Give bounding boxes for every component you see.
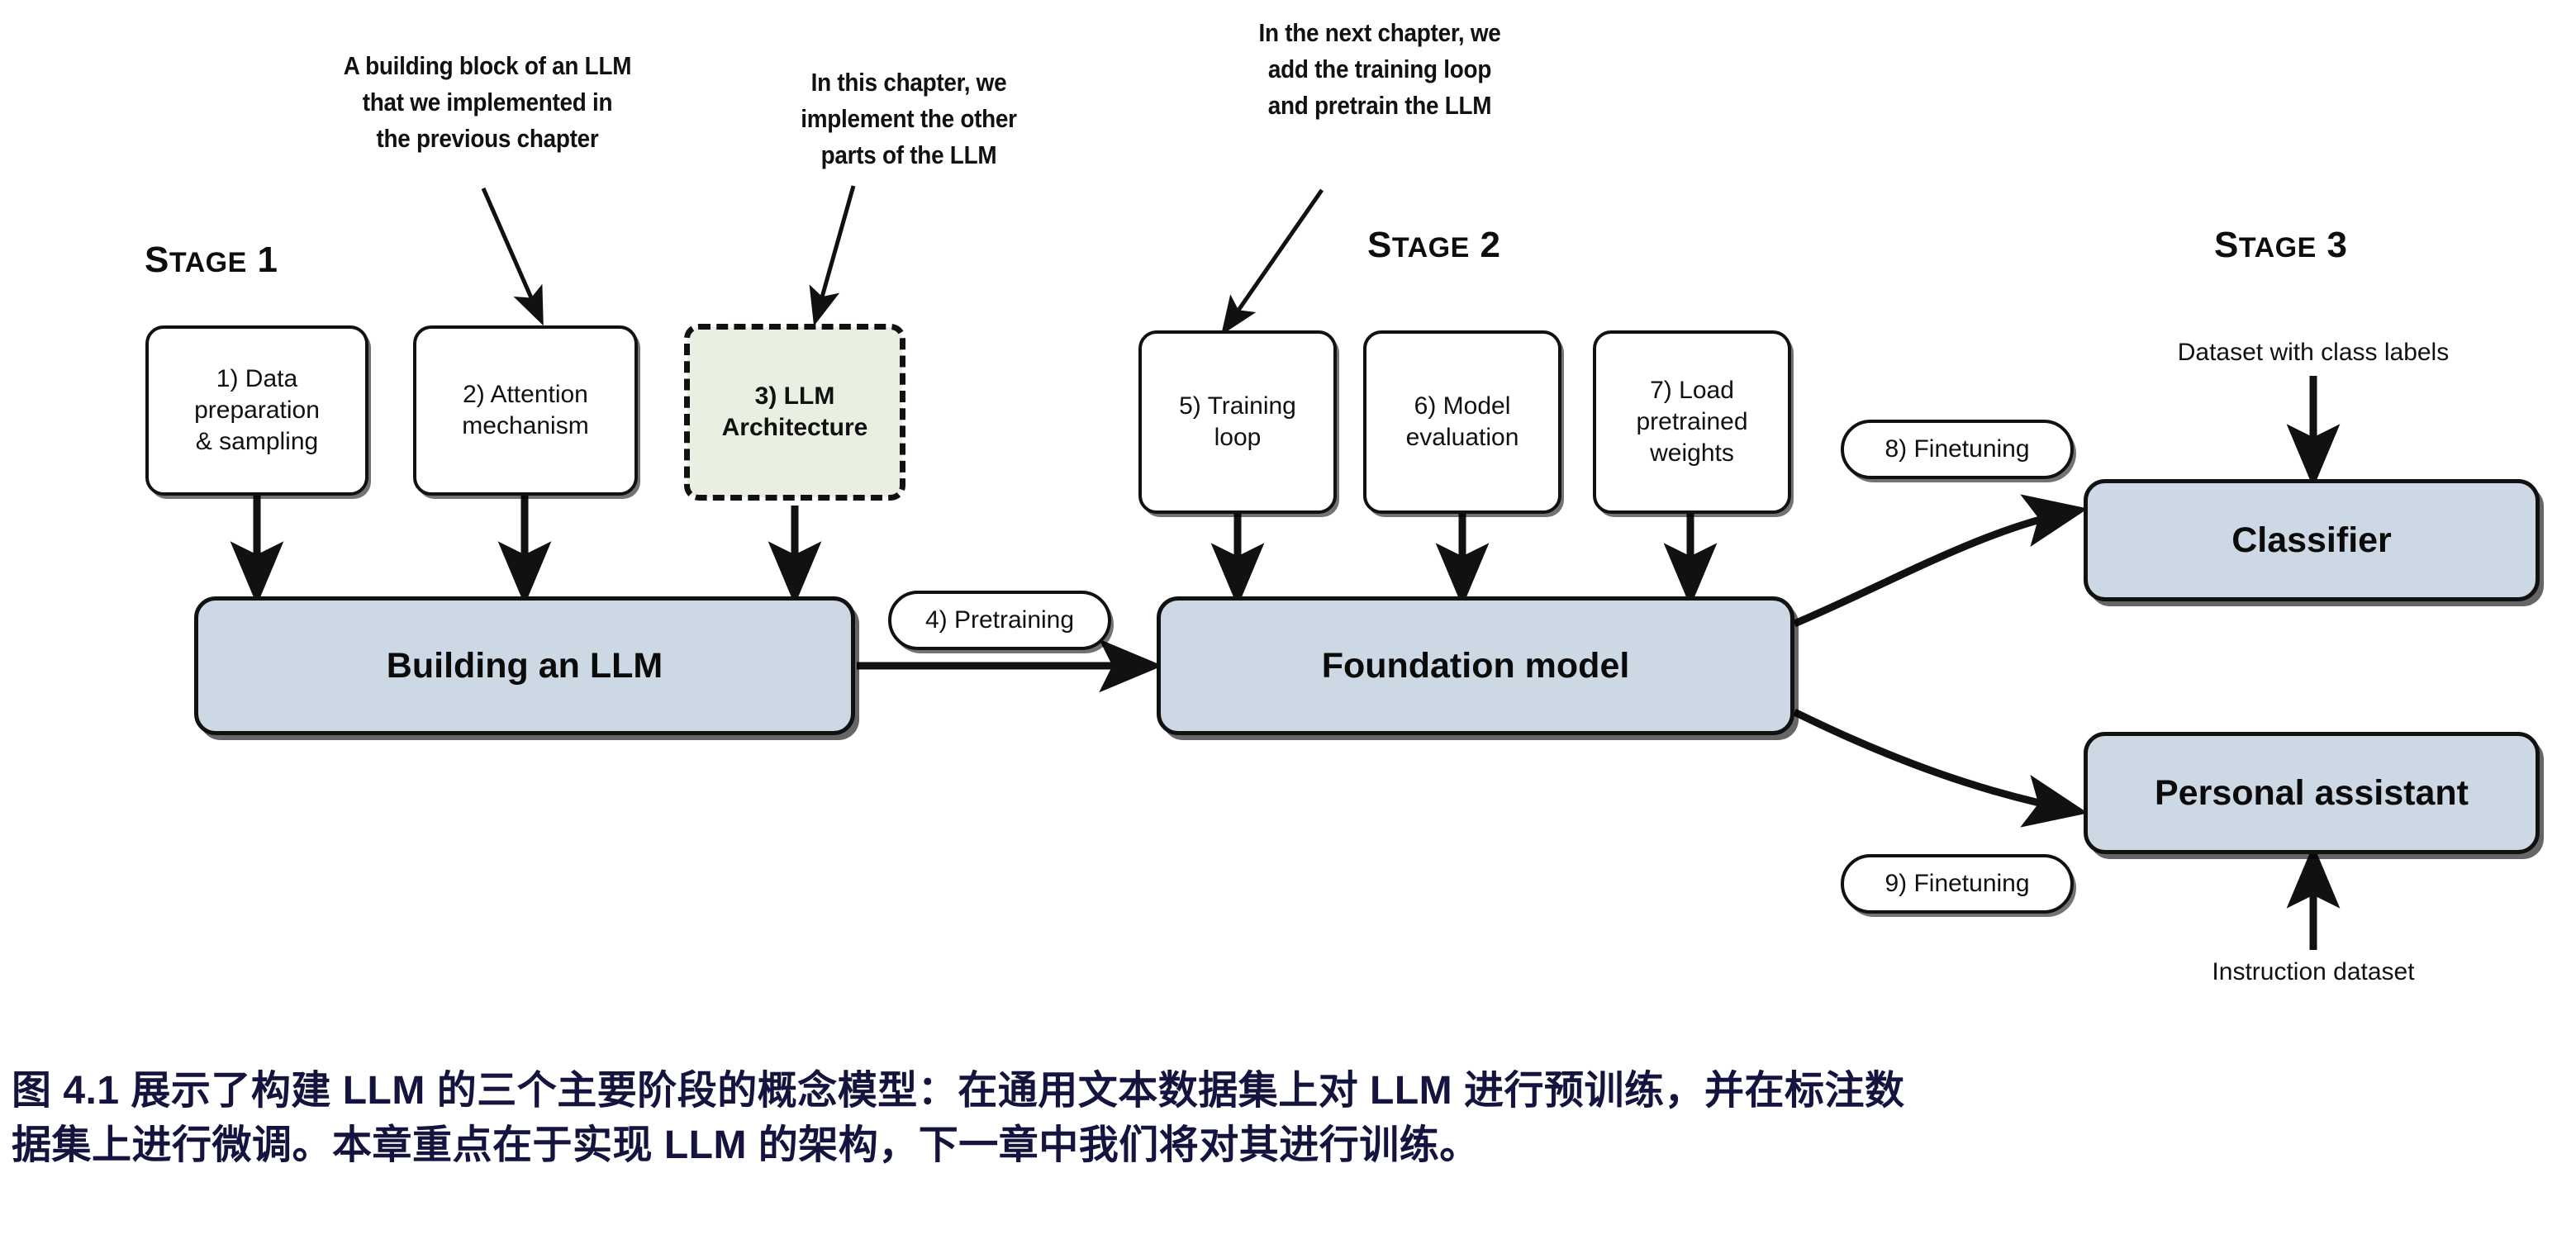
step-line: & sampling <box>194 426 320 458</box>
caption-line-2: 据集上进行微调。本章重点在于实现 LLM 的架构，下一章中我们将对其进行训练。 <box>12 1118 2564 1173</box>
step-line: 6) Model <box>1406 391 1519 422</box>
dataset-with-class-labels-label: Dataset with class labels <box>2123 339 2503 367</box>
stage-label-2: STAGE 2 <box>1367 225 1501 266</box>
callout-arrow-2 <box>815 186 853 320</box>
callout-prev-chapter: A building block of an LLM that we imple… <box>272 48 703 157</box>
box-foundation-model[interactable]: Foundation model <box>1157 596 1794 735</box>
callout-line: add the training loop <box>1194 51 1566 88</box>
step-line: loop <box>1179 422 1296 453</box>
caption-text: Instruction dataset <box>2212 958 2414 985</box>
arrow-foundation-assistant <box>1794 712 2078 811</box>
pill-finetuning-classifier[interactable]: 8) Finetuning <box>1841 420 2074 479</box>
step-line: 7) Load <box>1636 375 1747 406</box>
stage-label-number: 2 <box>1470 225 1501 265</box>
box-personal-assistant[interactable]: Personal assistant <box>2084 732 2540 854</box>
step-line: mechanism <box>462 411 588 442</box>
callout-line: A building block of an LLM <box>272 48 703 84</box>
step-line: Architecture <box>722 412 868 444</box>
step-box-data-preparation[interactable]: 1) Data preparation & sampling <box>145 325 368 496</box>
caption-line-1: 图 4.1 展示了构建 LLM 的三个主要阶段的概念模型：在通用文本数据集上对 … <box>12 1064 2564 1118</box>
stage-label-3: STAGE 3 <box>2214 225 2348 266</box>
callout-line: implement the other <box>745 101 1072 137</box>
step-line: 1) Data <box>194 363 320 395</box>
instruction-dataset-label: Instruction dataset <box>2123 958 2503 986</box>
step-box-load-pretrained-weights[interactable]: 7) Load pretrained weights <box>1593 330 1791 514</box>
arrow-foundation-classifier <box>1794 510 2078 624</box>
stage-label-1: STAGE 1 <box>145 240 278 281</box>
step-line: weights <box>1636 438 1747 469</box>
callout-line: In this chapter, we <box>745 64 1072 101</box>
stage-label-initial: S <box>1367 225 1392 265</box>
step-box-attention-mechanism[interactable]: 2) Attention mechanism <box>413 325 638 496</box>
stage-label-initial: S <box>145 240 169 280</box>
step-box-training-loop[interactable]: 5) Training loop <box>1138 330 1337 514</box>
caption-text: Dataset with class labels <box>2178 339 2449 366</box>
llm-stages-diagram: A building block of an LLM that we imple… <box>0 0 2576 1244</box>
callout-line: that we implemented in <box>272 84 703 121</box>
stage-label-rest: TAGE <box>169 247 247 278</box>
step-line: preparation <box>194 395 320 426</box>
callout-arrow-1 <box>483 188 541 320</box>
step-line: evaluation <box>1406 422 1519 453</box>
pill-label: 9) Finetuning <box>1884 870 2029 898</box>
stage-label-rest: TAGE <box>2239 232 2317 264</box>
callout-line: the previous chapter <box>272 121 703 157</box>
stage-label-initial: S <box>2214 225 2239 265</box>
box-classifier[interactable]: Classifier <box>2084 479 2540 601</box>
stage-label-number: 3 <box>2317 225 2348 265</box>
callout-arrow-3 <box>1224 190 1322 330</box>
step-line: 2) Attention <box>462 379 588 411</box>
callout-next-chapter: In the next chapter, we add the training… <box>1194 15 1566 124</box>
pill-label: 8) Finetuning <box>1884 435 2029 463</box>
box-label: Building an LLM <box>387 646 663 686</box>
pill-pretraining[interactable]: 4) Pretraining <box>888 591 1111 650</box>
step-line: 5) Training <box>1179 391 1296 422</box>
box-label: Foundation model <box>1322 646 1630 686</box>
callout-this-chapter: In this chapter, we implement the other … <box>745 64 1072 173</box>
step-line: pretrained <box>1636 406 1747 438</box>
step-box-llm-architecture[interactable]: 3) LLM Architecture <box>687 327 902 497</box>
pill-finetuning-assistant[interactable]: 9) Finetuning <box>1841 854 2074 914</box>
callout-line: and pretrain the LLM <box>1194 88 1566 124</box>
callout-line: parts of the LLM <box>745 137 1072 173</box>
step-line: 3) LLM <box>722 381 868 412</box>
stage-label-number: 1 <box>247 240 278 280</box>
callout-line: In the next chapter, we <box>1194 15 1566 51</box>
box-label: Classifier <box>2231 520 2392 561</box>
figure-caption: 图 4.1 展示了构建 LLM 的三个主要阶段的概念模型：在通用文本数据集上对 … <box>12 1064 2564 1173</box>
box-building-an-llm[interactable]: Building an LLM <box>194 596 855 735</box>
stage-label-rest: TAGE <box>1392 232 1470 264</box>
pill-label: 4) Pretraining <box>925 606 1074 634</box>
step-box-model-evaluation[interactable]: 6) Model evaluation <box>1363 330 1561 514</box>
box-label: Personal assistant <box>2155 773 2469 814</box>
